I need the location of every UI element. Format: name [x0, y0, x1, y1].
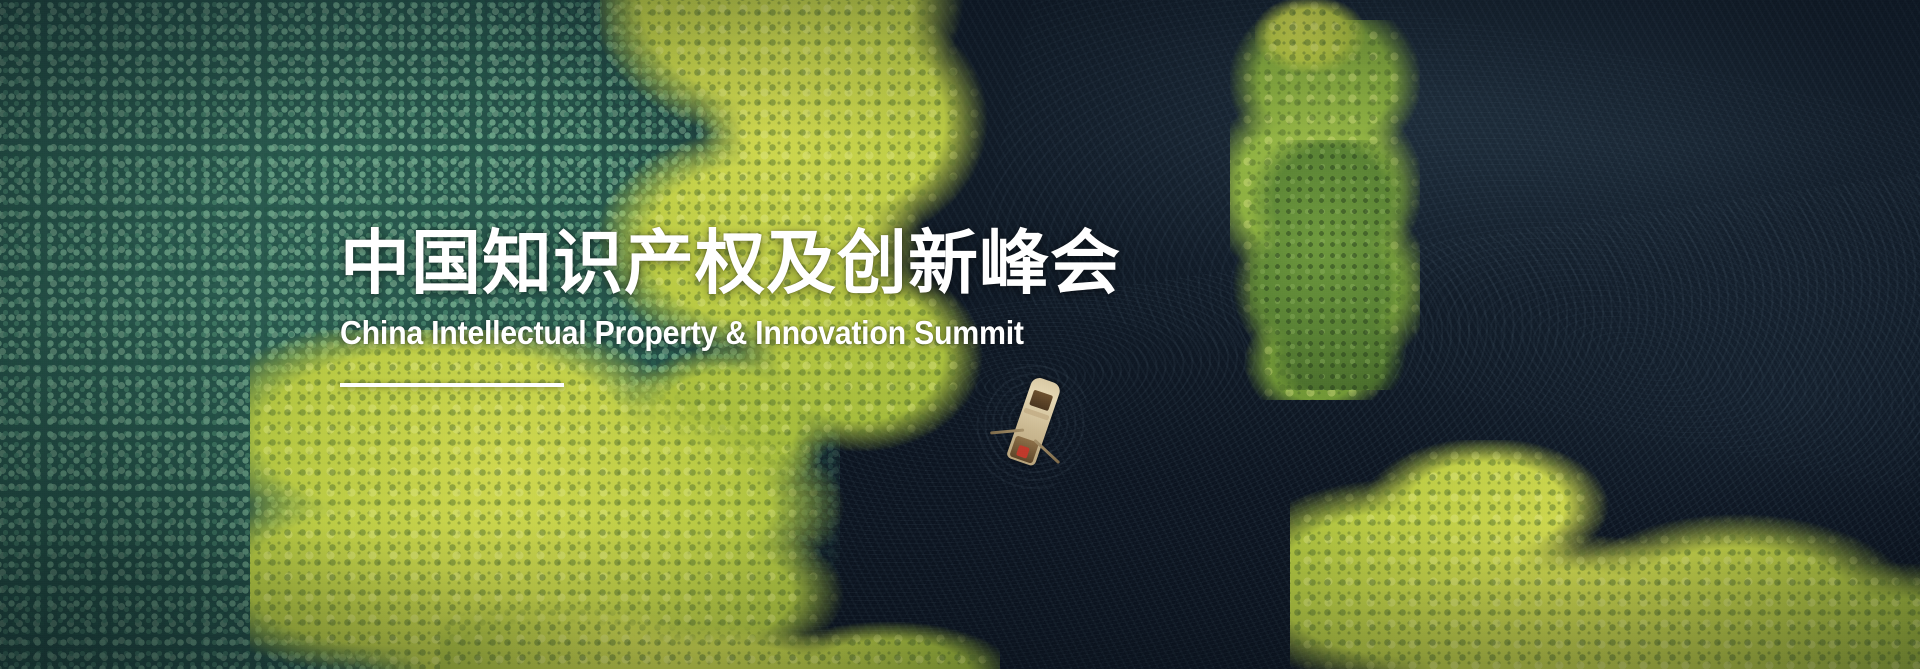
tree-texture: [1250, 140, 1410, 390]
event-hero-banner: 中国知识产权及创新峰会 China Intellectual Property …: [0, 0, 1920, 669]
hero-title-english: China Intellectual Property & Innovation…: [340, 316, 1168, 349]
hero-divider-rule: [340, 383, 564, 387]
algae-fringe-bottom-center: [440, 560, 1000, 669]
hero-title-chinese: 中国知识产权及创新峰会: [340, 228, 1240, 298]
algae-texture: [440, 560, 1000, 669]
algae-patch-top-right: [1255, 0, 1365, 80]
algae-texture: [1255, 0, 1365, 80]
tree-canopy-clump: [1250, 140, 1410, 390]
algae-shore-bottom-right: [1290, 440, 1920, 669]
hero-text-block: 中国知识产权及创新峰会 China Intellectual Property …: [340, 228, 1240, 387]
algae-texture: [1290, 440, 1920, 669]
